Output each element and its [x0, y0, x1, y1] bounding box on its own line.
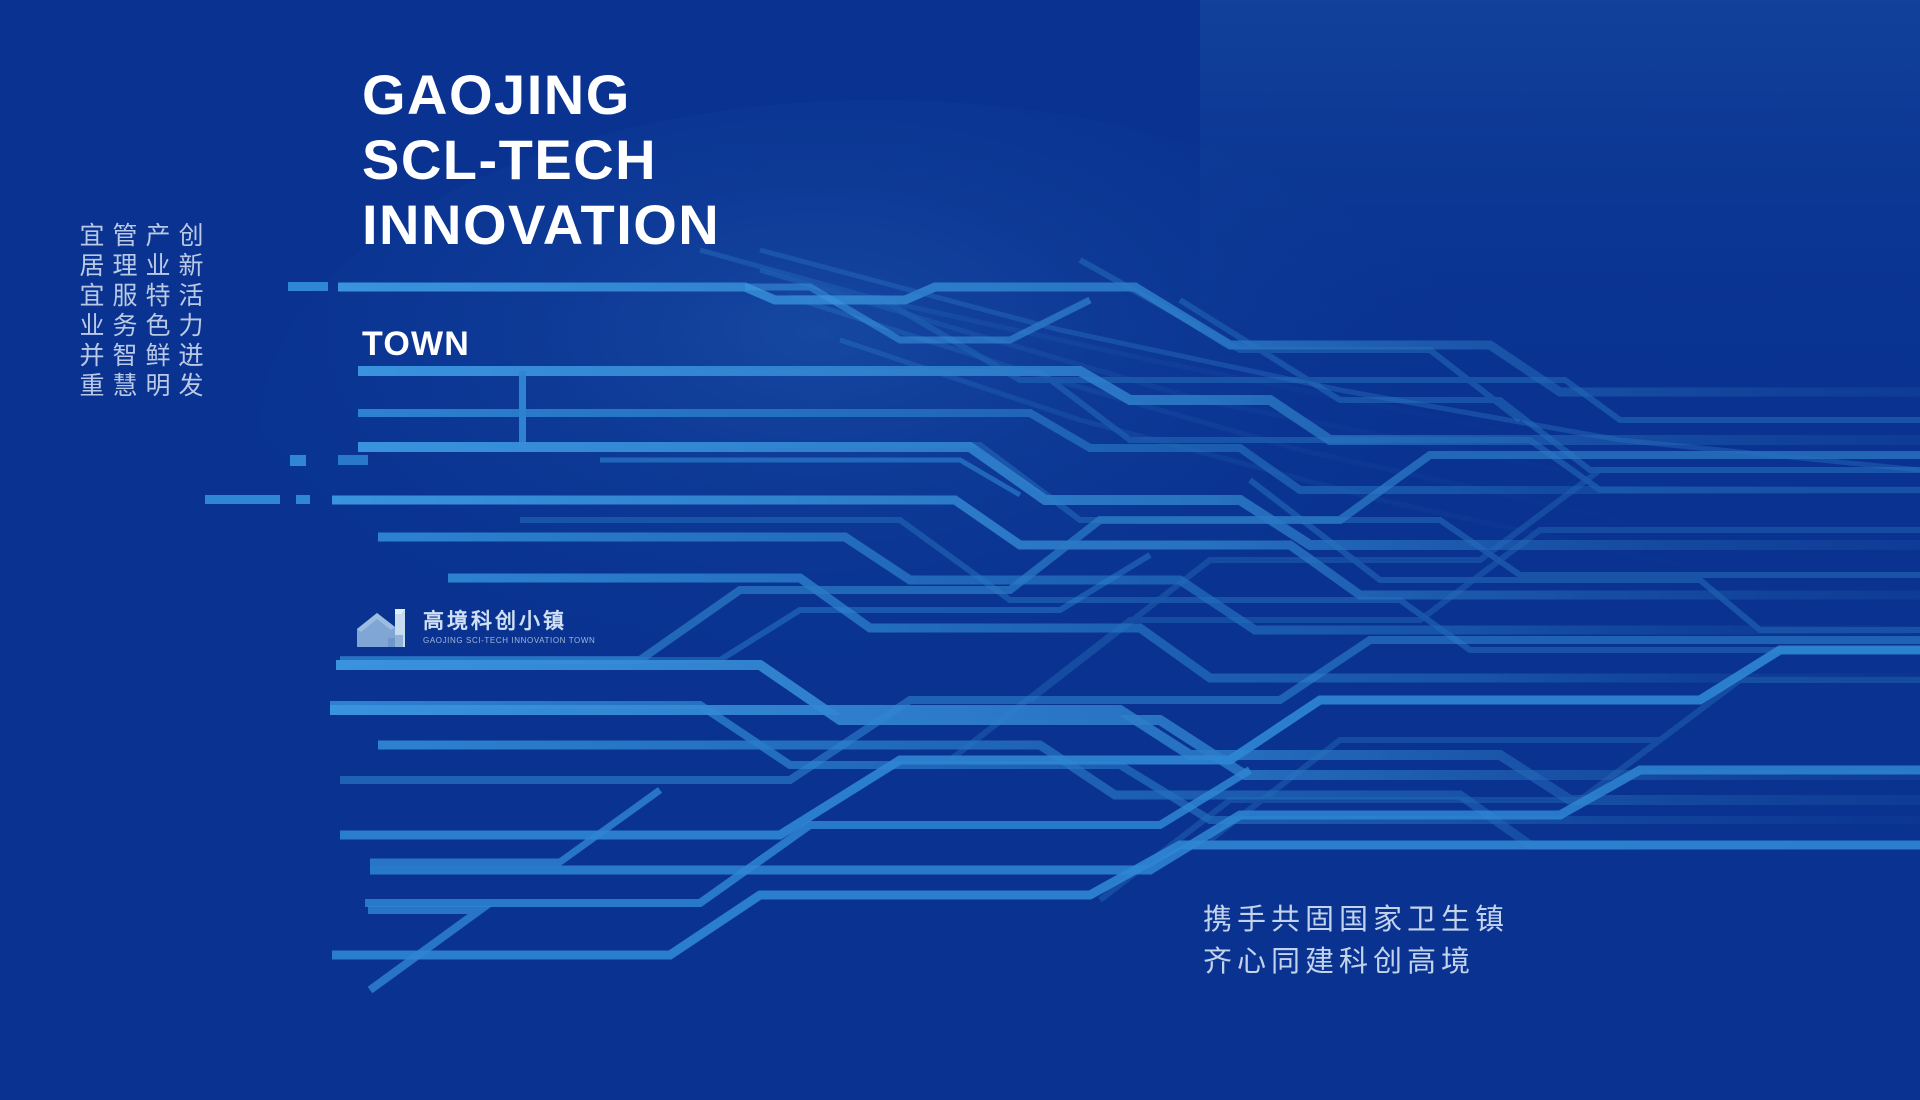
- vertical-slogan-column-4: 宜居宜业并重: [78, 222, 103, 402]
- logo-lockup: 高境科创小镇 GAOJING SCI-TECH INNOVATION TOWN: [355, 605, 595, 650]
- vertical-slogan-column-2: 产业特色鲜明: [144, 222, 169, 402]
- bottom-slogan-line-1: 携手共固国家卫生镇: [1203, 898, 1509, 940]
- headline-town-word: TOWN: [362, 325, 470, 364]
- headline-line-2: SCL-TECH: [362, 127, 720, 192]
- circuit-pattern-graphic: [0, 0, 1920, 1100]
- house-building-icon: [355, 605, 413, 650]
- headline-line-1: GAOJING: [362, 62, 720, 127]
- logo-english-name: GAOJING SCI-TECH INNOVATION TOWN: [423, 636, 595, 645]
- vertical-slogan-column-3: 管理服务智慧: [111, 222, 136, 402]
- vertical-slogan-group: 创新活力迸发 产业特色鲜明 管理服务智慧 宜居宜业并重: [78, 222, 202, 402]
- bottom-slogan-group: 携手共固国家卫生镇 齐心同建科创高境: [1203, 898, 1509, 982]
- vertical-slogan-column-1: 创新活力迸发: [177, 222, 202, 402]
- logo-text-block: 高境科创小镇 GAOJING SCI-TECH INNOVATION TOWN: [423, 610, 595, 645]
- headline-line-3: INNOVATION: [362, 192, 720, 257]
- logo-chinese-name: 高境科创小镇: [423, 610, 595, 633]
- poster-canvas: GAOJING SCL-TECH INNOVATION TOWN 创新活力迸发 …: [0, 0, 1920, 1100]
- bottom-slogan-line-2: 齐心同建科创高境: [1203, 940, 1509, 982]
- page-title: GAOJING SCL-TECH INNOVATION: [362, 62, 720, 257]
